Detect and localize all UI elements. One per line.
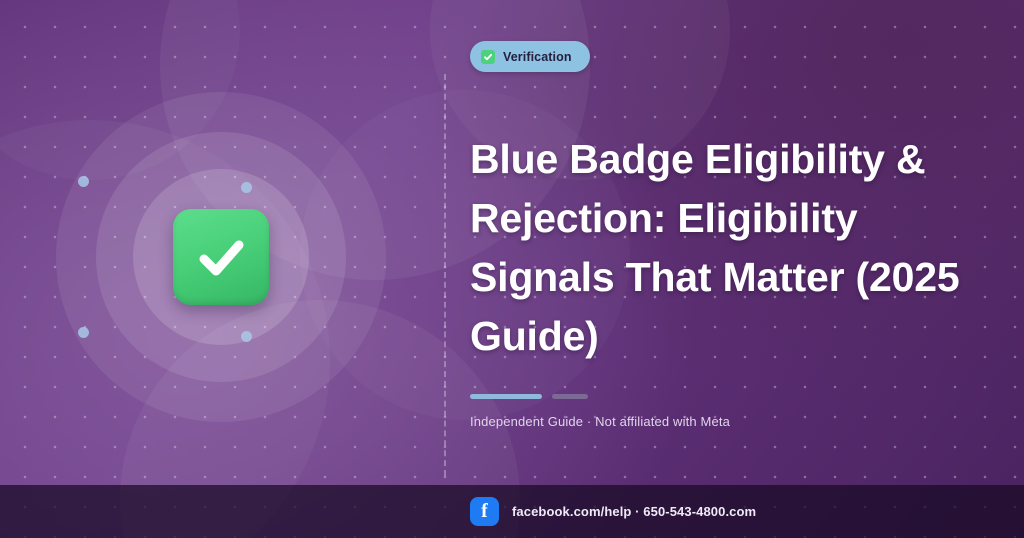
green-check-square-icon [173, 209, 269, 305]
accent-bars [470, 394, 588, 399]
footer-bar: f facebook.com/help · 650-543-4800.com [0, 485, 1024, 538]
accent-dot-bottom-left [78, 327, 89, 338]
accent-bar-primary [470, 394, 542, 399]
page-title: Blue Badge Eligibility & Rejection: Elig… [470, 130, 1010, 366]
accent-dot-bottom-right [241, 331, 252, 342]
facebook-glyph: f [481, 501, 488, 521]
check-square-icon [481, 50, 495, 64]
accent-dot-top-right [241, 182, 252, 193]
accent-bar-secondary [552, 394, 588, 399]
subtitle: Independent Guide · Not affiliated with … [470, 414, 730, 429]
status-badge-label: Verification [503, 50, 572, 64]
facebook-icon[interactable]: f [470, 497, 499, 526]
vertical-dashed-divider [444, 74, 446, 476]
content-column: Verification Blue Badge Eligibility & Re… [470, 0, 1024, 485]
footer-content: f facebook.com/help · 650-543-4800.com [470, 485, 756, 538]
banner: Verification Blue Badge Eligibility & Re… [0, 0, 1024, 538]
status-badge: Verification [470, 41, 590, 72]
footer-contact-text: facebook.com/help · 650-543-4800.com [512, 504, 756, 519]
verification-emblem [56, 92, 386, 422]
accent-dot-top-left [78, 176, 89, 187]
